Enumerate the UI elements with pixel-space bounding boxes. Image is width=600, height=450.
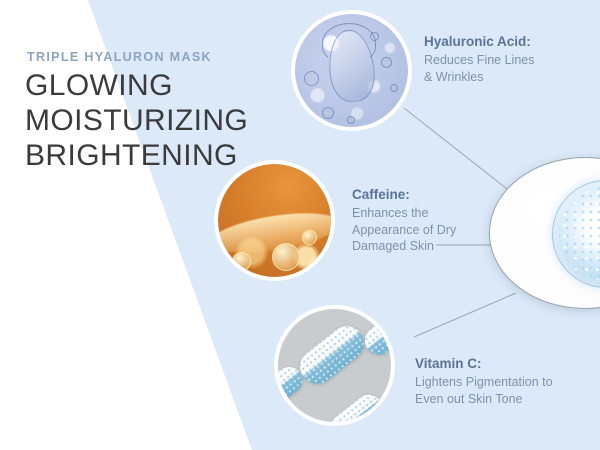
callout-vitamin-c: Vitamin C: Lightens Pigmentation to Even… bbox=[415, 355, 553, 407]
bubble-icon bbox=[390, 84, 398, 92]
jar-gel-sphere bbox=[552, 180, 600, 288]
infographic-canvas: TRIPLE HYALURON MASK GLOWING MOISTURIZIN… bbox=[0, 0, 600, 450]
callout-desc-line: Even out Skin Tone bbox=[415, 391, 553, 408]
callout-title: Vitamin C: bbox=[415, 355, 553, 372]
capsule-shape bbox=[293, 320, 371, 391]
callout-hyaluronic-acid: Hyaluronic Acid: Reduces Fine Lines & Wr… bbox=[424, 33, 534, 85]
ingredient-image-caffeine bbox=[218, 164, 331, 277]
oil-bubble-icon bbox=[308, 257, 328, 277]
gel-swirl-shape bbox=[322, 23, 376, 63]
bubble-icon bbox=[304, 71, 319, 86]
hyaluronic-gel-photo bbox=[295, 14, 408, 127]
bubble-icon bbox=[381, 57, 392, 68]
headline-line-1: GLOWING bbox=[25, 68, 248, 103]
capsule-shape bbox=[325, 389, 388, 422]
oil-bubble-icon bbox=[302, 230, 317, 245]
callout-desc-line: Lightens Pigmentation to bbox=[415, 374, 553, 391]
headline-line-2: MOISTURIZING bbox=[25, 103, 248, 138]
oil-bubble-icon bbox=[272, 243, 300, 271]
callout-title: Hyaluronic Acid: bbox=[424, 33, 534, 50]
callout-caffeine: Caffeine: Enhances the Appearance of Dry… bbox=[352, 186, 456, 255]
callout-desc-line: Damaged Skin bbox=[352, 238, 456, 255]
callout-desc-line: Enhances the bbox=[352, 205, 456, 222]
callout-desc-line: Appearance of Dry bbox=[352, 222, 456, 239]
bubble-icon bbox=[322, 107, 334, 119]
amber-oil-photo bbox=[218, 164, 331, 277]
headline-line-3: BRIGHTENING bbox=[25, 138, 248, 173]
callout-title: Caffeine: bbox=[352, 186, 456, 203]
bubble-icon bbox=[370, 32, 379, 41]
callout-desc-line: & Wrinkles bbox=[424, 69, 534, 86]
oil-bubble-icon bbox=[232, 252, 251, 271]
capsules-photo bbox=[278, 309, 391, 422]
page-title: GLOWING MOISTURIZING BRIGHTENING bbox=[25, 68, 248, 173]
ingredient-image-hyaluronic-acid bbox=[295, 14, 408, 127]
brand-eyebrow: TRIPLE HYALURON MASK bbox=[27, 50, 212, 64]
callout-desc-line: Reduces Fine Lines bbox=[424, 52, 534, 69]
bubble-icon bbox=[347, 116, 355, 124]
ingredient-image-vitamin-c bbox=[278, 309, 391, 422]
